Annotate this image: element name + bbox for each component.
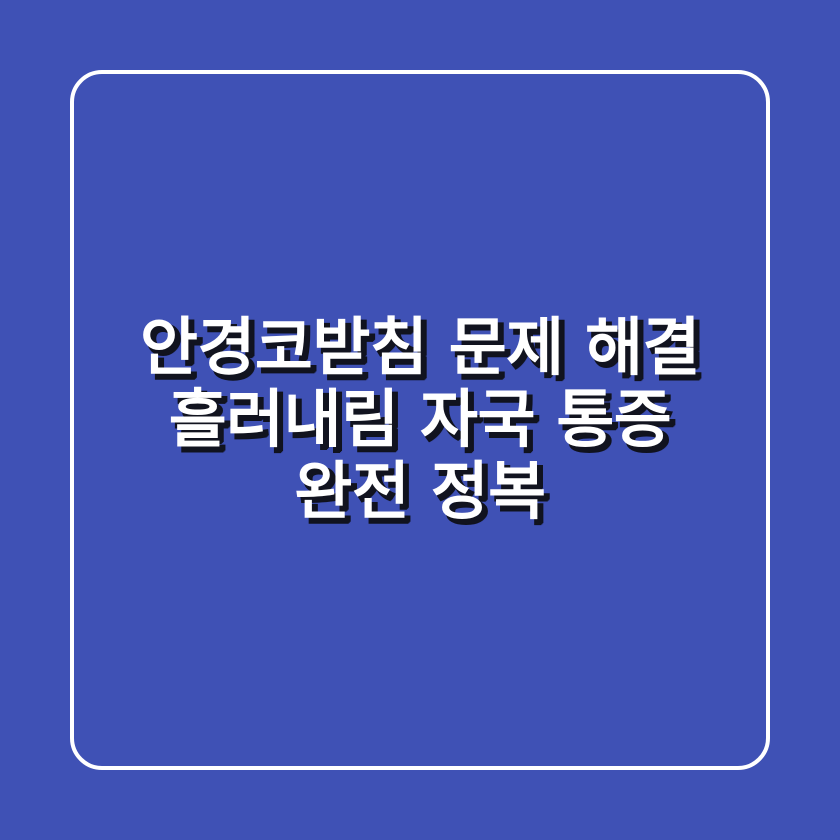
headline-line-3: 완전 정복 (90, 456, 750, 528)
headline-line-1: 안경코받침 문제 해결 (90, 312, 750, 384)
headline-line-2: 흘러내림 자국 통증 (90, 384, 750, 456)
headline-block: 안경코받침 문제 해결 흘러내림 자국 통증 완전 정복 (0, 0, 840, 840)
poster-canvas: 안경코받침 문제 해결 흘러내림 자국 통증 완전 정복 (0, 0, 840, 840)
